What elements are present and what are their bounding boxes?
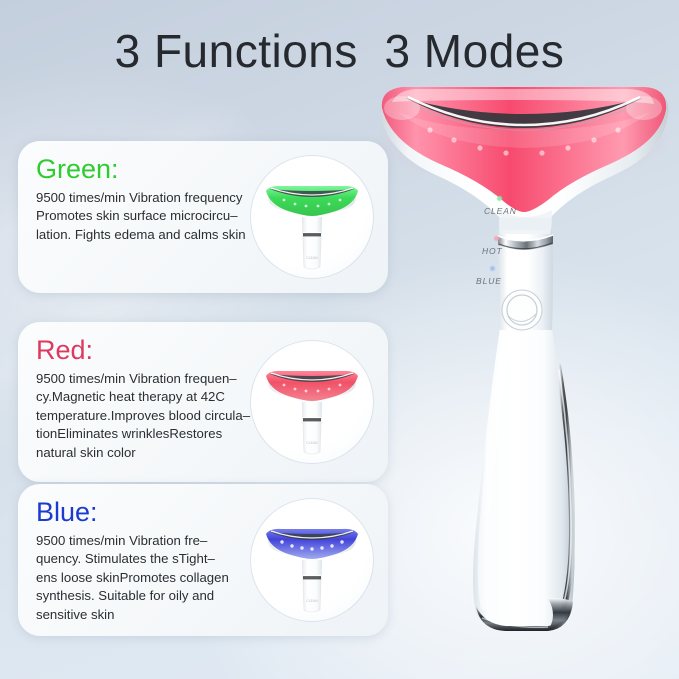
mode-label-clean: CLEAN <box>484 206 517 216</box>
page-title: 3 Functions 3 Modes <box>0 24 679 78</box>
feature-card-blue-body: 9500 times/min Vibration fre– quency. St… <box>36 532 286 624</box>
feature-card-red: Red: 9500 times/min Vibration frequen– c… <box>18 322 388 482</box>
svg-text:CLEAN: CLEAN <box>306 441 318 445</box>
feature-card-blue: Blue: 9500 times/min Vibration fre– quen… <box>18 484 388 636</box>
mode-led-clean <box>497 196 502 201</box>
device-thumbnail-blue-graphic: CLEAN <box>250 498 374 622</box>
mode-label-blue: BLUE <box>476 276 502 286</box>
feature-card-green: Green: 9500 times/min Vibration frequenc… <box>18 141 388 293</box>
mode-label-hot: HOT <box>482 246 503 256</box>
device-thumbnail-red: CLEAN <box>250 340 374 464</box>
power-button[interactable] <box>502 290 542 330</box>
mode-led-hot <box>494 236 499 241</box>
mode-led-blue <box>490 266 495 271</box>
feature-card-green-title: Green: <box>36 155 286 185</box>
device-thumbnail-red-graphic: CLEAN <box>250 340 374 464</box>
feature-card-red-body: 9500 times/min Vibration frequen– cy.Mag… <box>36 370 286 462</box>
feature-card-blue-title: Blue: <box>36 498 286 528</box>
feature-card-green-text: Green: 9500 times/min Vibration frequenc… <box>36 155 286 244</box>
device-thumbnail-green: CLEAN <box>250 155 374 279</box>
device-thumbnail-green-graphic: CLEAN <box>250 155 374 279</box>
svg-text:CLEAN: CLEAN <box>306 256 318 260</box>
feature-card-red-text: Red: 9500 times/min Vibration frequen– c… <box>36 336 286 462</box>
feature-card-red-title: Red: <box>36 336 286 366</box>
svg-text:CLEAN: CLEAN <box>306 599 318 603</box>
device-thumbnail-blue: CLEAN <box>250 498 374 622</box>
infographic-canvas: 3 Functions 3 Modes Green: 9500 times/mi… <box>0 0 679 679</box>
feature-card-blue-text: Blue: 9500 times/min Vibration fre– quen… <box>36 498 286 624</box>
feature-card-green-body: 9500 times/min Vibration frequency Promo… <box>36 189 286 244</box>
product-illustration <box>372 78 672 638</box>
product-photo: CLEAN HOT BLUE <box>372 78 672 638</box>
